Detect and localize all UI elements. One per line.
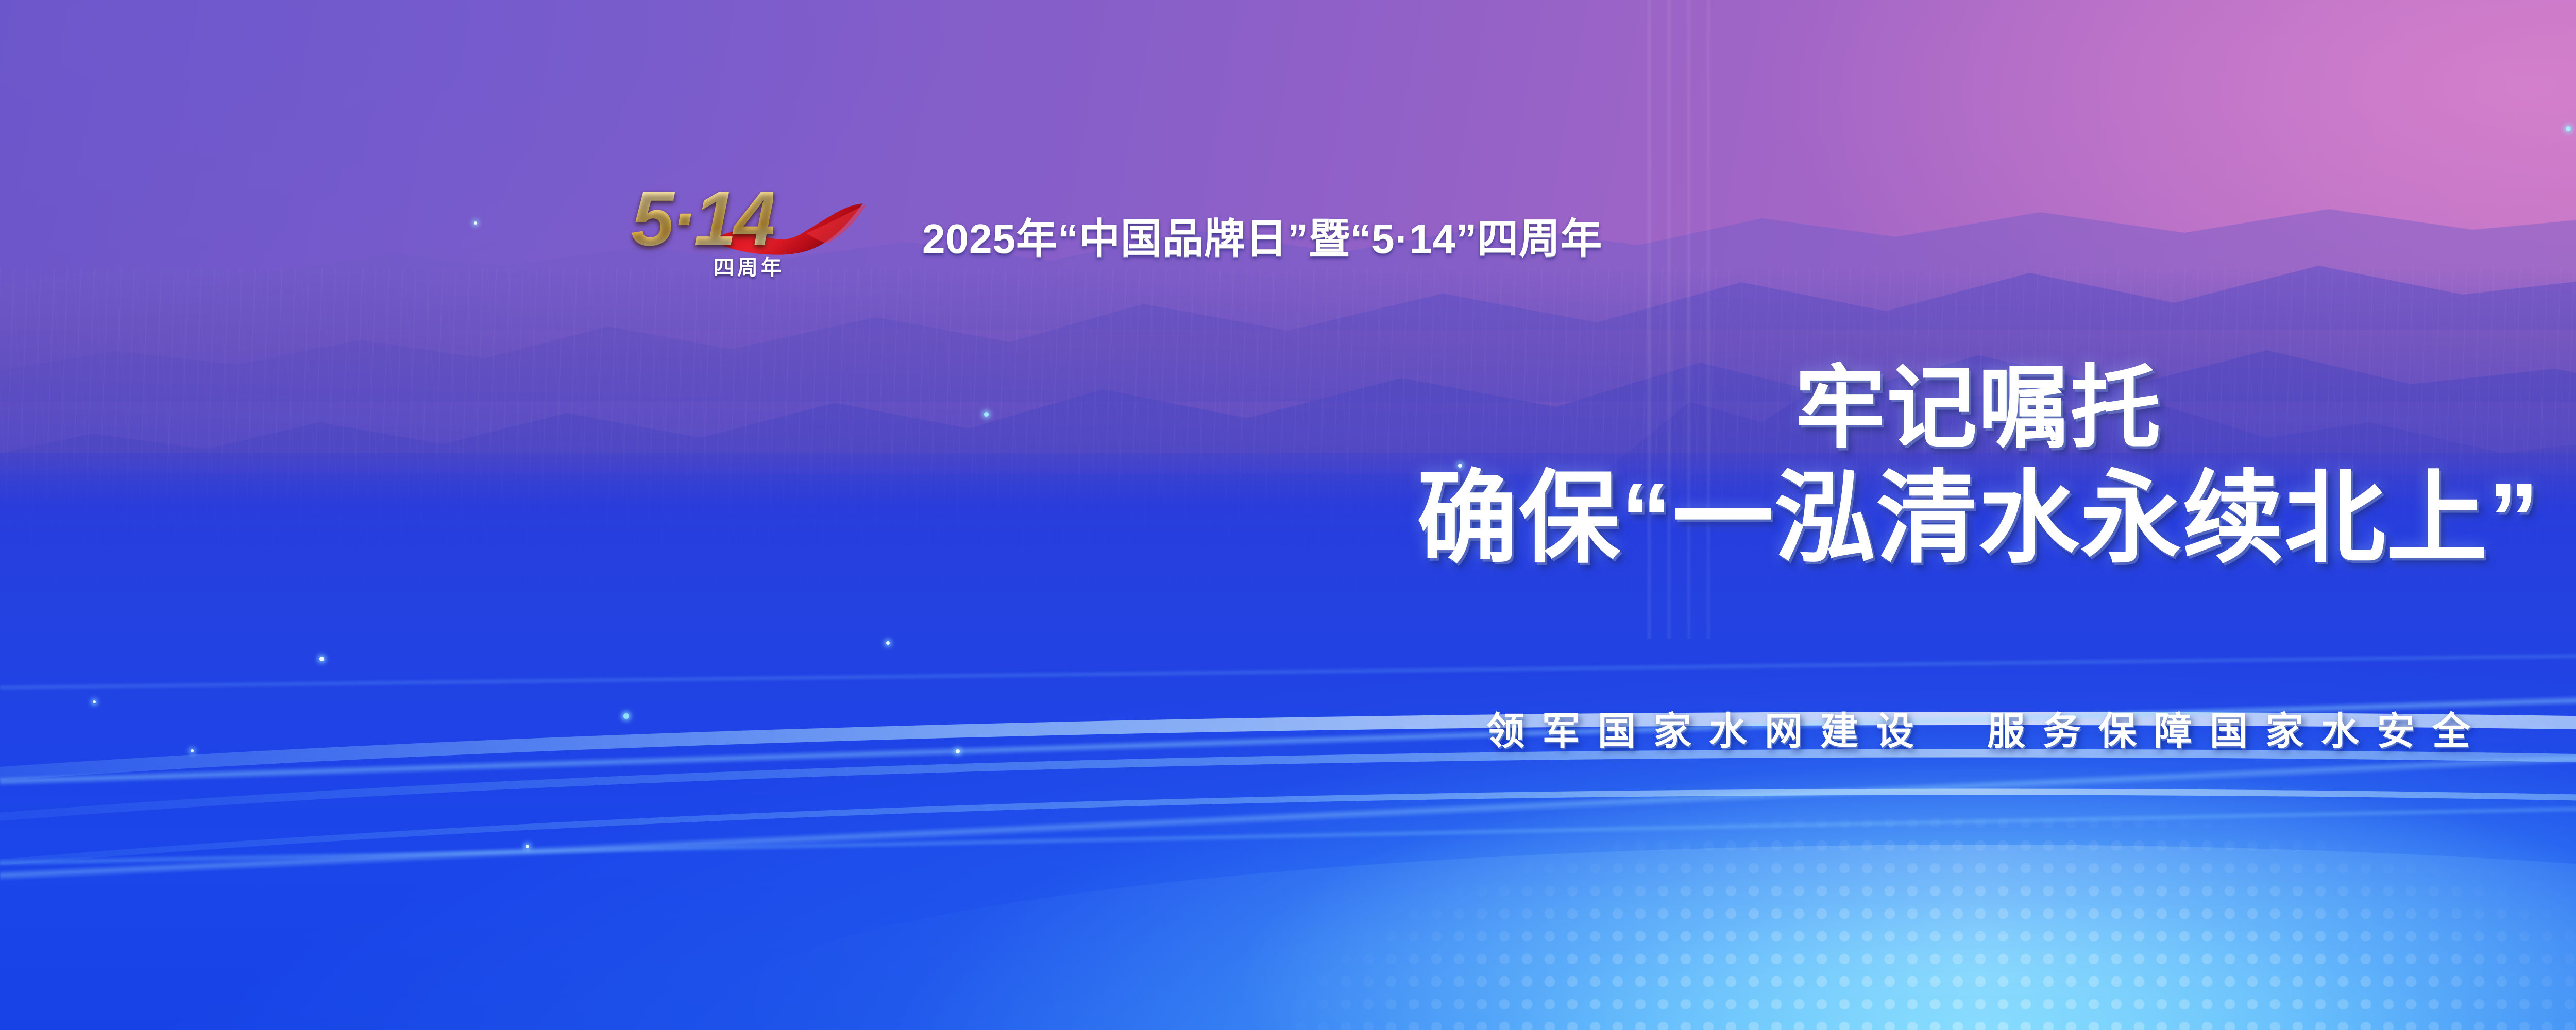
- headline-line-1: 牢记嘱托: [0, 360, 2576, 457]
- headline-block: 牢记嘱托 确保“一泓清水永续北上”: [0, 360, 2576, 572]
- event-title: 2025年“中国品牌日”暨“5·14”四周年: [922, 205, 1602, 265]
- anniversary-label: 四周年: [714, 251, 785, 281]
- banner-content: 5·14 四周年 2025年“中国品牌日”暨“5·14”四周年: [0, 0, 2576, 1030]
- headline-line-2: 确保“一泓清水永续北上”: [0, 465, 2576, 572]
- anniversary-logo: 5·14 四周年: [631, 183, 899, 281]
- anniversary-number: 5·14: [631, 180, 773, 257]
- banner-stage: 5·14 四周年 2025年“中国品牌日”暨“5·14”四周年: [0, 0, 2576, 1030]
- subtitle-line: 领军国家水网建设 服务保障国家水安全: [0, 700, 2576, 756]
- top-info-row: 5·14 四周年 2025年“中国品牌日”暨“5·14”四周年: [0, 183, 2576, 281]
